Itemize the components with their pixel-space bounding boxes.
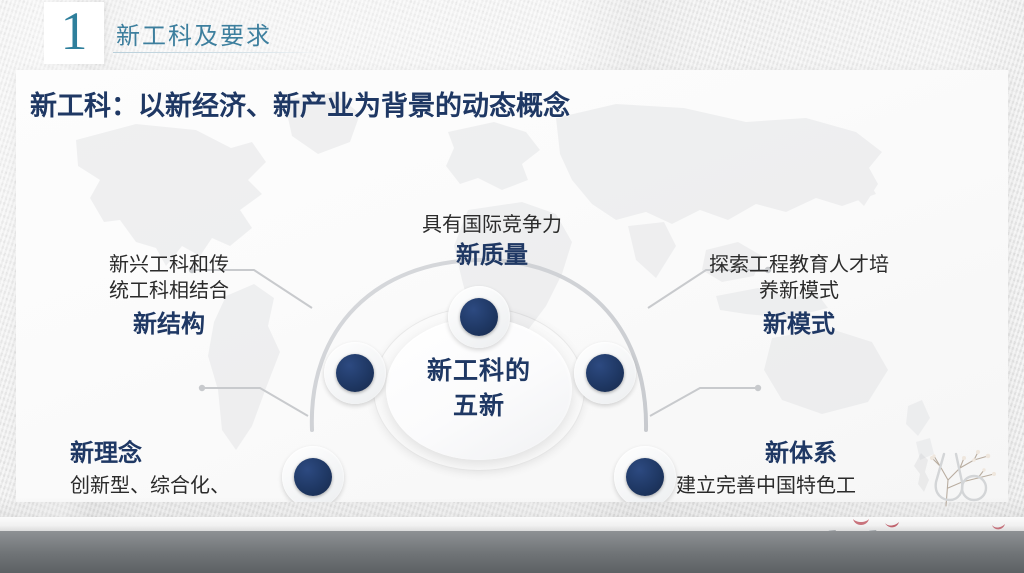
label-new-quality: 具有国际竞争力 新质量 <box>380 212 604 271</box>
label-key: 新理念 <box>70 440 330 469</box>
label-new-concept: 新理念 创新型、综合化、 全周期工程教育 <box>70 440 330 502</box>
label-desc-line-1: 创新型、综合化、 <box>70 473 330 499</box>
section-number-box: 1 <box>44 2 104 64</box>
label-new-system: 新体系 建立完善中国特色工 程教育的“新体系” <box>676 440 944 502</box>
label-key: 新质量 <box>380 242 604 271</box>
node-new-model[interactable] <box>574 342 636 404</box>
section-title: 新工科及要求 <box>116 16 272 51</box>
node-dot-icon <box>336 354 374 392</box>
header-divider <box>113 52 321 53</box>
desk-body <box>0 531 1024 573</box>
label-key: 新模式 <box>668 311 930 340</box>
node-dot-icon <box>626 458 664 496</box>
label-desc-line-1: 建立完善中国特色工 <box>676 473 944 499</box>
center-line-2: 五新 <box>453 389 505 425</box>
label-key: 新结构 <box>58 311 280 340</box>
label-desc-line-2: 统工科相结合 <box>58 278 280 304</box>
label-new-model: 探索工程教育人才培 养新模式 新模式 <box>668 252 930 340</box>
section-number: 1 <box>61 4 88 58</box>
label-desc-line-1: 新兴工科和传 <box>58 252 280 278</box>
petal-decoration <box>884 517 900 535</box>
desk-top <box>0 517 1024 531</box>
petal-decoration <box>852 515 870 533</box>
label-desc-line-2: 养新模式 <box>668 278 930 304</box>
petal-decoration <box>991 519 1006 537</box>
label-new-structure: 新兴工科和传 统工科相结合 新结构 <box>58 252 280 340</box>
slide-header: 1 新工科及要求 <box>0 0 1024 70</box>
label-desc: 具有国际竞争力 <box>380 212 604 238</box>
content-panel: 新工科：以新经济、新产业为背景的动态概念 <box>16 70 1008 502</box>
label-desc-line-1: 探索工程教育人才培 <box>668 252 930 278</box>
label-key: 新体系 <box>676 440 926 469</box>
node-dot-icon <box>586 354 624 392</box>
page-title: 新工科：以新经济、新产业为背景的动态概念 <box>30 84 570 123</box>
node-new-quality[interactable] <box>448 286 510 348</box>
node-new-structure[interactable] <box>324 342 386 404</box>
node-new-system[interactable] <box>614 446 676 502</box>
node-dot-icon <box>460 298 498 336</box>
desk <box>0 497 1024 573</box>
center-line-1: 新工科的 <box>427 354 531 390</box>
